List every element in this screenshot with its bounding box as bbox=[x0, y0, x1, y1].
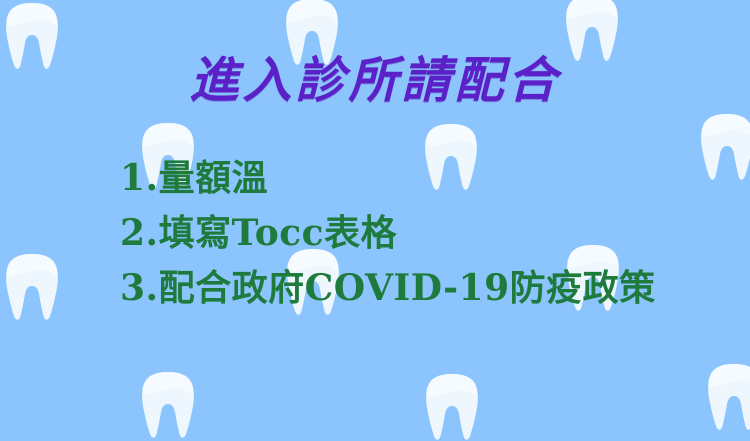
page-title: 進入診所請配合 bbox=[0, 55, 750, 106]
list-item: 2.填寫Tocc表格 bbox=[120, 215, 656, 251]
list-item: 3.配合政府COVID-19防疫政策 bbox=[120, 270, 656, 306]
list-item: 1.量額溫 bbox=[120, 160, 656, 196]
instruction-list: 1.量額溫 2.填寫Tocc表格 3.配合政府COVID-19防疫政策 bbox=[120, 160, 656, 306]
poster-content: 進入診所請配合 1.量額溫 2.填寫Tocc表格 3.配合政府COVID-19防… bbox=[0, 0, 750, 441]
dental-clinic-notice-poster: 進入診所請配合 1.量額溫 2.填寫Tocc表格 3.配合政府COVID-19防… bbox=[0, 0, 750, 441]
